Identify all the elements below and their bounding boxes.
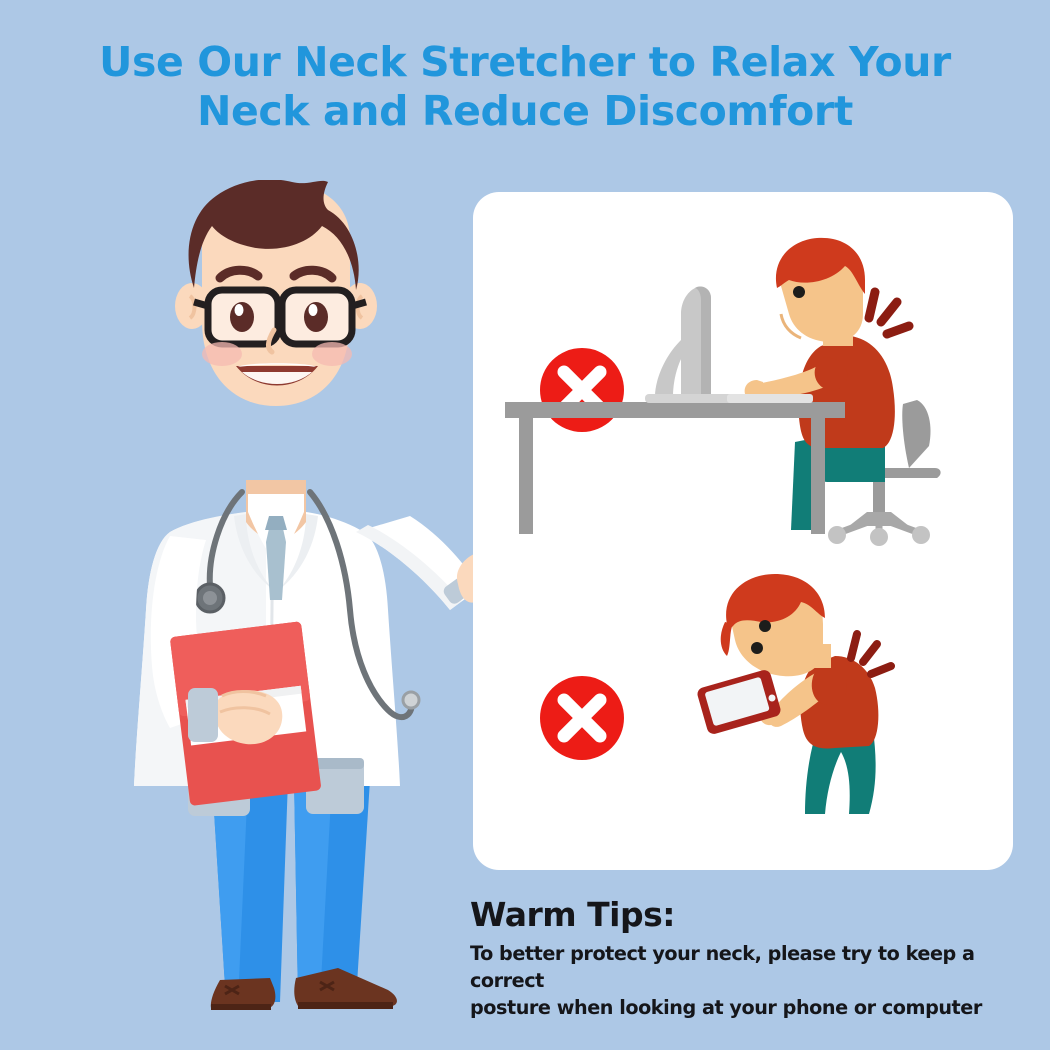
warm-tips-heading: Warm Tips: xyxy=(470,898,1030,933)
warm-tips-line-1: To better protect your neck, please try … xyxy=(470,940,1030,995)
warm-tips-line-2: posture when looking at your phone or co… xyxy=(470,994,1030,1021)
page-title-line-2: Neck and Reduce Discomfort xyxy=(0,87,1050,136)
page-title: Use Our Neck Stretcher to Relax Your Nec… xyxy=(0,38,1050,136)
pain-indicator xyxy=(869,292,909,334)
warm-tips-body: To better protect your neck, please try … xyxy=(470,940,1030,1022)
poster-root: Use Our Neck Stretcher to Relax Your Nec… xyxy=(0,0,1050,1050)
red-x-circle-icon xyxy=(540,676,624,760)
desk-scene-svg xyxy=(505,230,1005,550)
phone-scene-svg xyxy=(505,570,1005,860)
smartphone xyxy=(696,668,782,735)
scene-bad-posture-desk xyxy=(505,230,1005,550)
doctor-glasses xyxy=(194,290,366,344)
doctor-head xyxy=(175,180,377,406)
red-x-circle-icon xyxy=(540,348,624,432)
doctor-svg xyxy=(70,180,490,1020)
warm-tips-block: Warm Tips: To better protect your neck, … xyxy=(470,898,1030,1021)
hunching-person xyxy=(696,574,891,814)
doctor-left-hand xyxy=(188,688,282,744)
page-title-line-1: Use Our Neck Stretcher to Relax Your xyxy=(0,38,1050,87)
scene-bad-posture-phone xyxy=(505,570,1005,860)
doctor-illustration xyxy=(70,180,490,1020)
